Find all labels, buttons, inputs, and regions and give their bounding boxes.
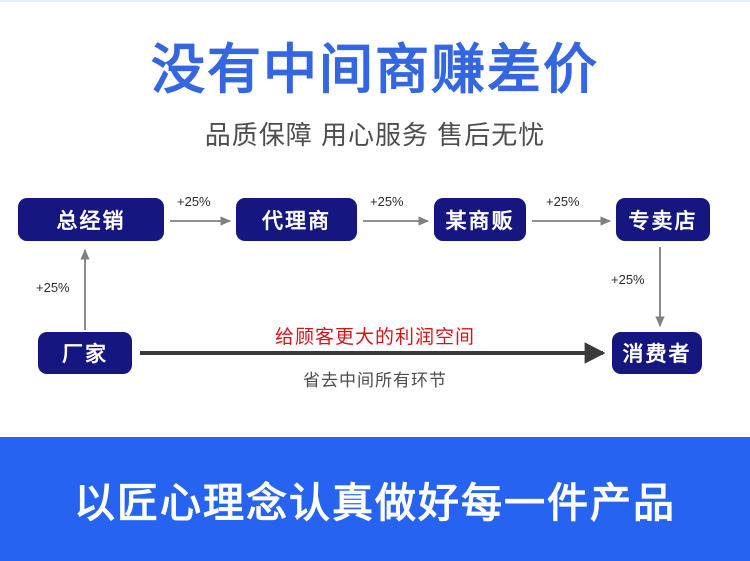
- slogan-banner: 以匠心理念认真做好每一件产品: [0, 437, 750, 561]
- markup-label-zongjingxiao-dailishang: +25%: [177, 194, 211, 209]
- flow-node-zongjingxiao[interactable]: 总经销: [18, 198, 164, 241]
- direct-path-subtext: 省去中间所有环节: [0, 366, 750, 391]
- slogan-banner-text: 以匠心理念认真做好每一件产品: [74, 469, 676, 529]
- markup-label-dailishang-moushangfan: +25%: [370, 194, 404, 209]
- flow-node-moushangfan[interactable]: 某商贩: [434, 198, 526, 241]
- promo-banner-page: 没有中间商赚差价 品质保障 用心服务 售后无忧: [0, 0, 750, 561]
- flow-node-zhuanmaidian[interactable]: 专卖店: [616, 198, 710, 241]
- markup-label-changjia-zongjingxiao: +25%: [36, 280, 70, 295]
- distribution-flow-diagram: 总经销 代理商 某商贩 专卖店 厂家 消费者 +25% +25% +25% +2…: [0, 0, 750, 437]
- direct-path-headline: 给顾客更大的利润空间: [0, 322, 750, 349]
- markup-label-zhuanmaidian-xiaofeizhe: +25%: [611, 272, 645, 287]
- markup-label-moushangfan-zhuanmaidian: +25%: [546, 194, 580, 209]
- flow-node-dailishang[interactable]: 代理商: [236, 198, 357, 241]
